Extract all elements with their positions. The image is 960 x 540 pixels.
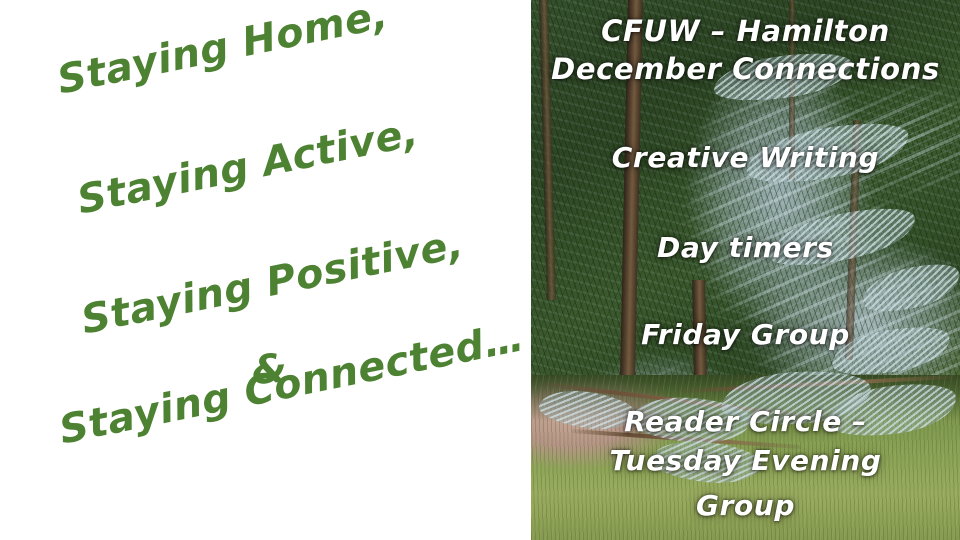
photo-text-overlay: CFUW – Hamilton December Connections Cre… [531, 0, 960, 540]
fir-tree-photo: CFUW – Hamilton December Connections Cre… [531, 0, 960, 540]
presentation-slide: Staying Home, Staying Active, Staying Po… [0, 0, 960, 540]
group-label-reader-circle-line-1: Reader Circle – [531, 405, 960, 438]
slogan-line-staying-positive: Staying Positive, [77, 221, 467, 344]
slogan-line-staying-home: Staying Home, [53, 0, 391, 104]
group-label-creative-writing: Creative Writing [531, 141, 960, 174]
photo-title-line-1: CFUW – Hamilton [531, 14, 960, 48]
slogan-line-staying-active: Staying Active, [73, 109, 422, 223]
group-label-day-timers: Day timers [531, 231, 960, 264]
group-label-reader-circle-line-3: Group [531, 489, 960, 522]
group-label-reader-circle-line-2: Tuesday Evening [531, 444, 960, 477]
group-label-friday-group: Friday Group [531, 318, 960, 351]
slogan-panel: Staying Home, Staying Active, Staying Po… [0, 0, 531, 540]
photo-title-line-2: December Connections [531, 52, 960, 86]
